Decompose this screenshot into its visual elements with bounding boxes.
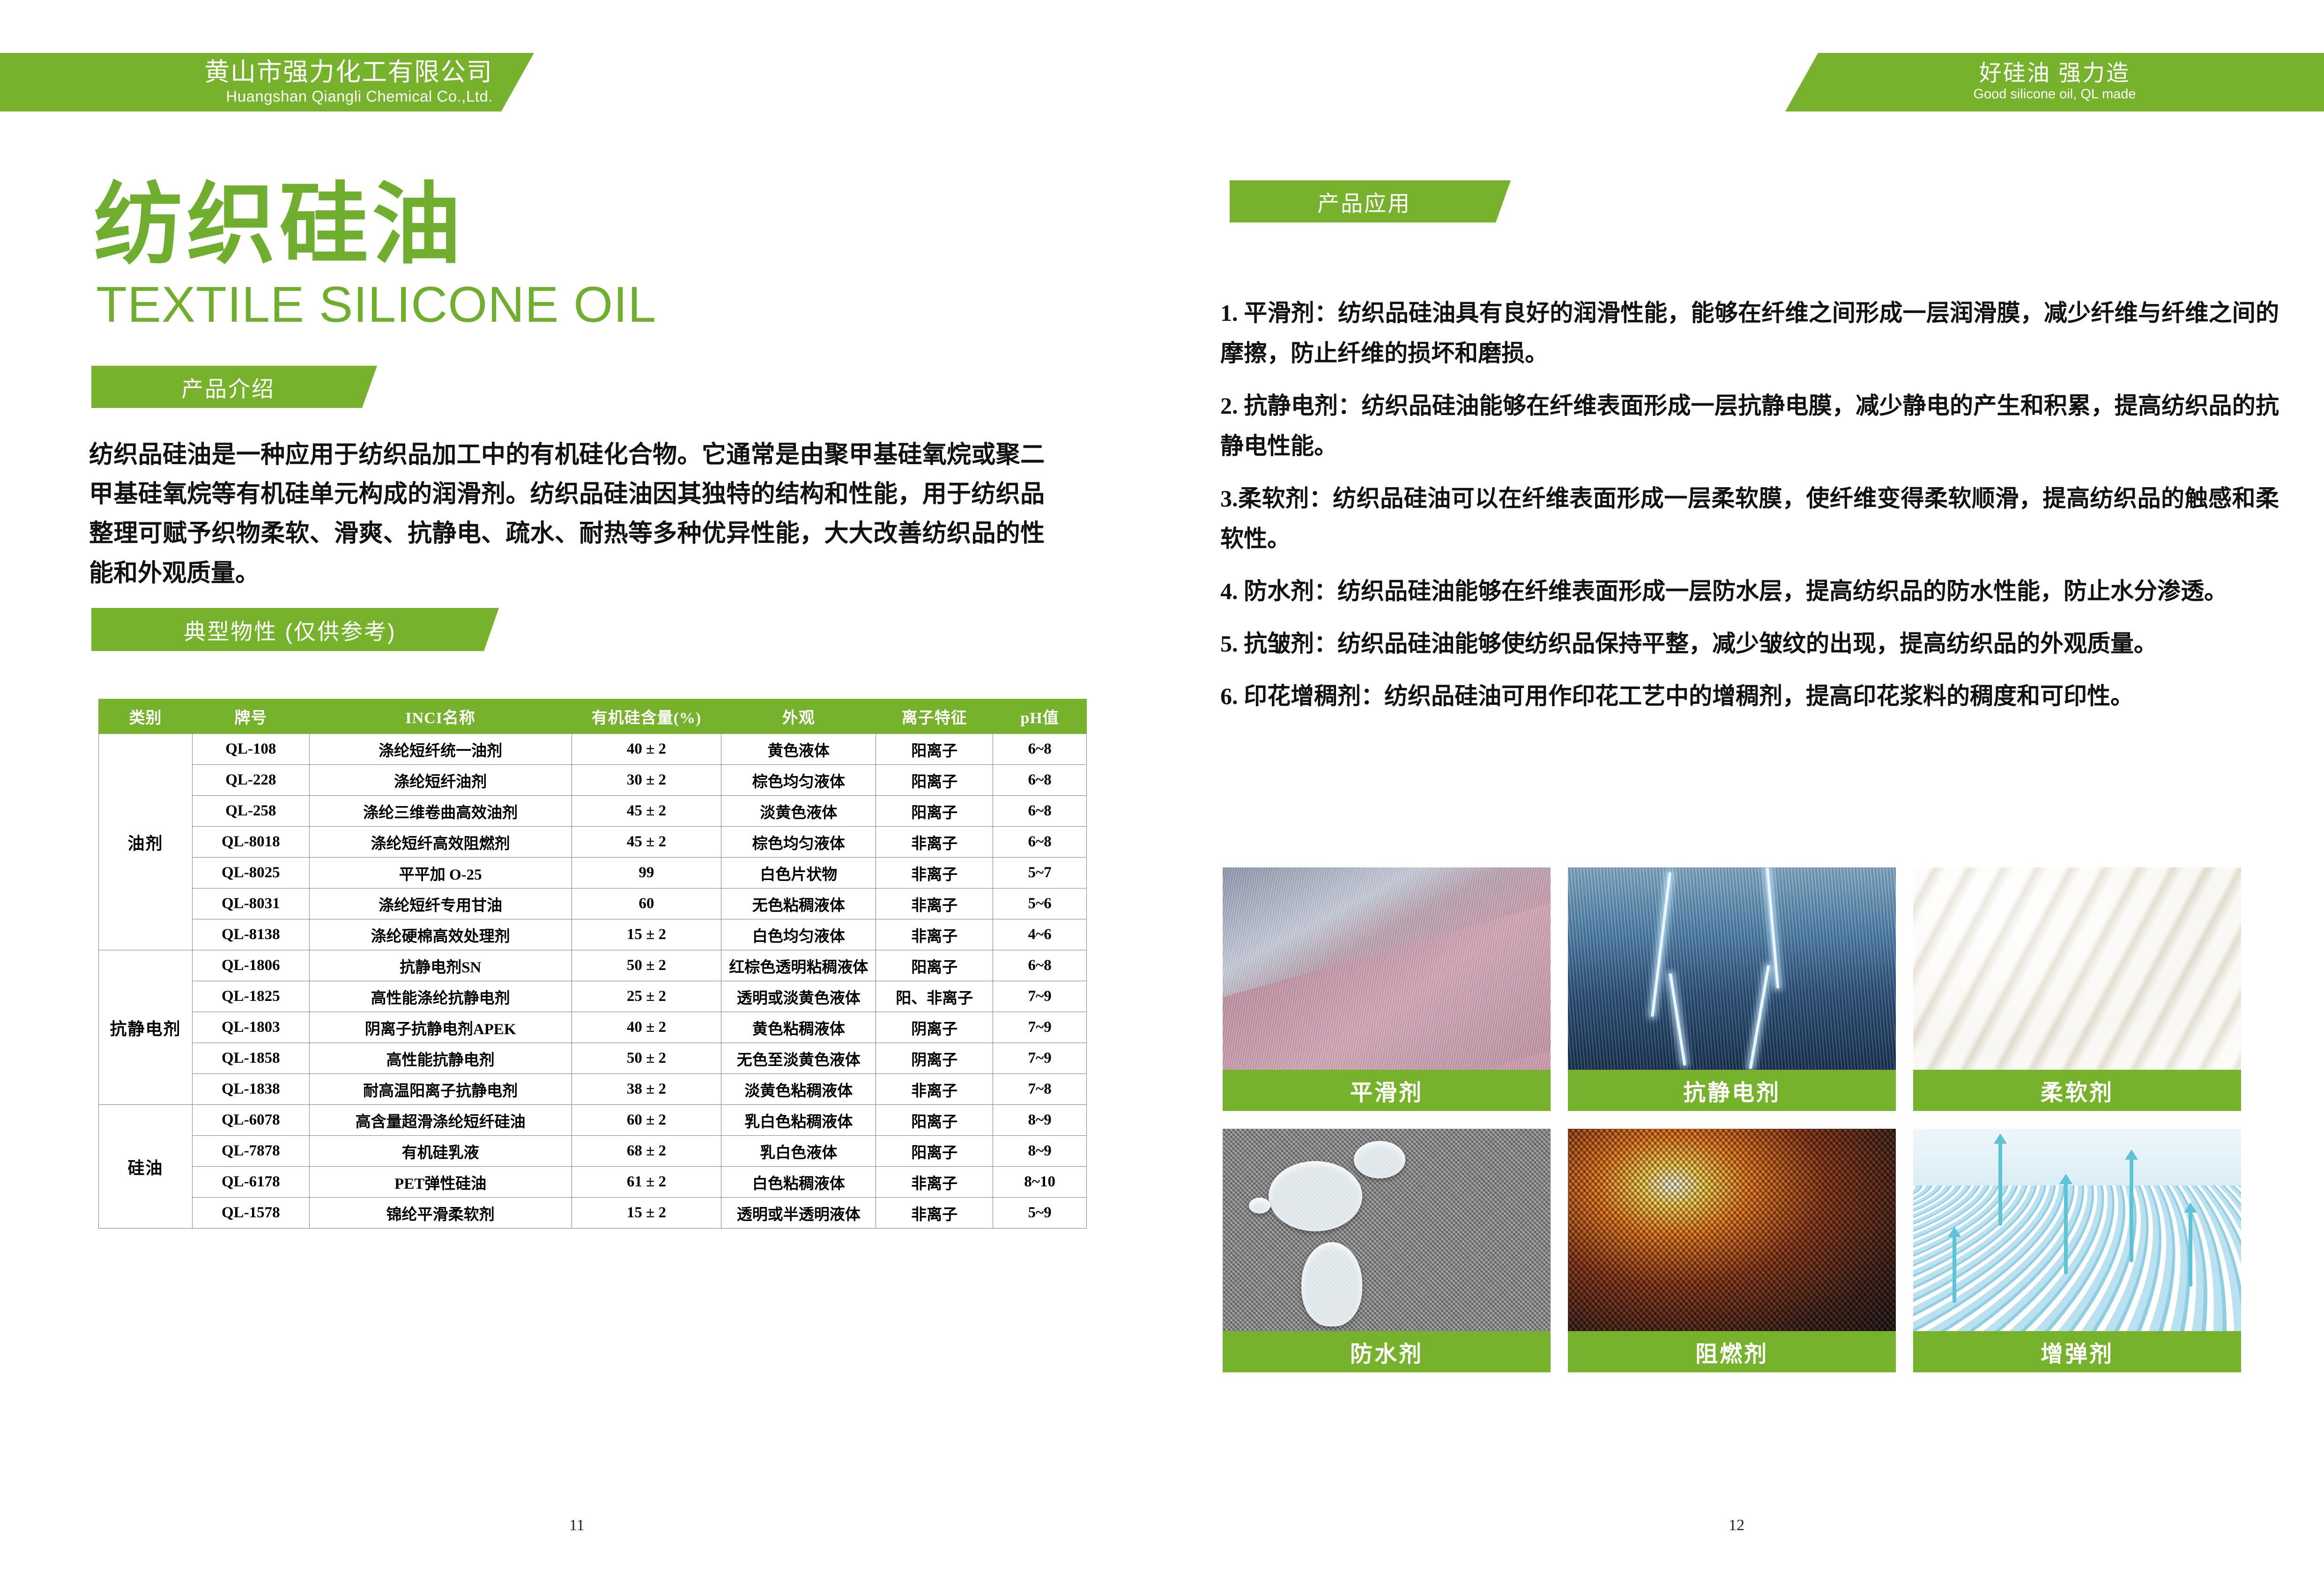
application-gallery: 平滑剂 抗静电剂 柔软剂 — [1223, 867, 2300, 1372]
table-cell: QL-228 — [192, 765, 309, 796]
table-cell: 50 ± 2 — [572, 1043, 721, 1074]
table-cell: 5~9 — [993, 1198, 1087, 1229]
table-row: QL-258涤纶三维卷曲高效油剂45 ± 2淡黄色液体阳离子6~8 — [99, 796, 1087, 827]
table-cell: 非离子 — [876, 1074, 993, 1105]
table-cell: 非离子 — [876, 919, 993, 950]
table-row: QL-6178PET弹性硅油61 ± 2白色粘稠液体非离子8~10 — [99, 1167, 1087, 1198]
section-badge-product-applications: 产品应用 — [1230, 180, 1511, 222]
table-cell: 黄色液体 — [721, 734, 876, 765]
table-cell: 白色片状物 — [721, 858, 876, 888]
table-cell: 红棕色透明粘稠液体 — [721, 950, 876, 981]
page-number-right: 12 — [1729, 1517, 1745, 1534]
spec-table-head: 类别 牌号 INCI名称 有机硅含量(%) 外观 离子特征 pH值 — [99, 699, 1087, 734]
application-item: 4. 防水剂：纺织品硅油能够在纤维表面形成一层防水层，提高纺织品的防水性能，防止… — [1220, 571, 2279, 611]
spec-table-wrapper: 类别 牌号 INCI名称 有机硅含量(%) 外观 离子特征 pH值 油剂QL-1… — [98, 699, 1087, 1229]
table-cell: 7~8 — [993, 1074, 1087, 1105]
table-cell: 高性能抗静电剂 — [309, 1043, 572, 1074]
table-cell: 白色粘稠液体 — [721, 1167, 876, 1198]
table-cell: 高含量超滑涤纶短纤硅油 — [309, 1105, 572, 1136]
table-cell: QL-1806 — [192, 950, 309, 981]
table-row: QL-228涤纶短纤油剂30 ± 2棕色均匀液体阳离子6~8 — [99, 765, 1087, 796]
table-cell: 6~8 — [993, 950, 1087, 981]
table-cell: 淡黄色粘稠液体 — [721, 1074, 876, 1105]
table-cell: 阳离子 — [876, 765, 993, 796]
table-cell: 抗静电剂SN — [309, 950, 572, 981]
table-row: QL-8025平平加 O-2599白色片状物非离子5~7 — [99, 858, 1087, 888]
table-cell: QL-1858 — [192, 1043, 309, 1074]
table-cell: 涤纶短纤专用甘油 — [309, 888, 572, 919]
table-cell: PET弹性硅油 — [309, 1167, 572, 1198]
table-cell: QL-6178 — [192, 1167, 309, 1198]
table-cell: 8~9 — [993, 1105, 1087, 1136]
table-cell: 40 ± 2 — [572, 1012, 721, 1043]
table-row: QL-1578锦纶平滑柔软剂15 ± 2透明或半透明液体非离子5~9 — [99, 1198, 1087, 1229]
table-row: 油剂QL-108涤纶短纤统一油剂40 ± 2黄色液体阳离子6~8 — [99, 734, 1087, 765]
gallery-card-antistatic: 抗静电剂 — [1568, 867, 1896, 1111]
table-cell: 非离子 — [876, 827, 993, 858]
left-page: 纺织硅油 TEXTILE SILICONE OIL 产品介绍 纺织品硅油是一种应… — [0, 0, 1162, 1577]
col-header-category: 类别 — [99, 699, 193, 734]
table-cell: QL-1838 — [192, 1074, 309, 1105]
table-cell: 高性能涤纶抗静电剂 — [309, 981, 572, 1012]
section-badge-product-intro-label: 产品介绍 — [181, 371, 275, 403]
table-cell-category: 油剂 — [99, 734, 193, 950]
spec-table-body: 油剂QL-108涤纶短纤统一油剂40 ± 2黄色液体阳离子6~8QL-228涤纶… — [99, 734, 1087, 1229]
table-cell: 涤纶短纤统一油剂 — [309, 734, 572, 765]
table-cell: 非离子 — [876, 1167, 993, 1198]
table-cell: QL-258 — [192, 796, 309, 827]
table-cell: 淡黄色液体 — [721, 796, 876, 827]
table-cell: 7~9 — [993, 1043, 1087, 1074]
table-cell: QL-1803 — [192, 1012, 309, 1043]
table-cell: 棕色均匀液体 — [721, 765, 876, 796]
table-cell: 4~6 — [993, 919, 1087, 950]
col-header-ph: pH值 — [993, 699, 1087, 734]
table-cell: QL-6078 — [192, 1105, 309, 1136]
table-row: QL-8138涤纶硬棉高效处理剂15 ± 2白色均匀液体非离子4~6 — [99, 919, 1087, 950]
water-beading-photo — [1223, 1129, 1551, 1331]
table-row: 抗静电剂QL-1806抗静电剂SN50 ± 2红棕色透明粘稠液体阳离子6~8 — [99, 950, 1087, 981]
table-row: 硅油QL-6078高含量超滑涤纶短纤硅油60 ± 2乳白色粘稠液体阳离子8~9 — [99, 1105, 1087, 1136]
table-cell: 25 ± 2 — [572, 981, 721, 1012]
table-cell: 7~9 — [993, 1012, 1087, 1043]
table-cell: 非离子 — [876, 858, 993, 888]
gallery-card-softener: 柔软剂 — [1913, 867, 2241, 1111]
table-cell: 6~8 — [993, 796, 1087, 827]
table-cell: 45 ± 2 — [572, 796, 721, 827]
table-cell: 30 ± 2 — [572, 765, 721, 796]
table-cell: 平平加 O-25 — [309, 858, 572, 888]
section-badge-typical-properties-label: 典型物性 (仅供参考) — [184, 614, 396, 646]
table-cell: 7~9 — [993, 981, 1087, 1012]
table-cell: 38 ± 2 — [572, 1074, 721, 1105]
gallery-caption-waterproof: 防水剂 — [1223, 1331, 1551, 1372]
table-cell: 非离子 — [876, 888, 993, 919]
section-badge-product-applications-label: 产品应用 — [1317, 185, 1411, 218]
col-header-silicone-content: 有机硅含量(%) — [572, 699, 721, 734]
table-cell: 棕色均匀液体 — [721, 827, 876, 858]
table-cell-category: 抗静电剂 — [99, 950, 193, 1105]
gallery-caption-smoothing: 平滑剂 — [1223, 1070, 1551, 1111]
table-cell: 45 ± 2 — [572, 827, 721, 858]
col-header-inci: INCI名称 — [309, 699, 572, 734]
product-intro-paragraph: 纺织品硅油是一种应用于纺织品加工中的有机硅化合物。它通常是由聚甲基硅氧烷或聚二甲… — [89, 436, 1045, 593]
table-cell: 有机硅乳液 — [309, 1136, 572, 1167]
table-cell: QL-8031 — [192, 888, 309, 919]
table-cell: 阳离子 — [876, 1105, 993, 1136]
col-header-ionic: 离子特征 — [876, 699, 993, 734]
table-cell: 白色均匀液体 — [721, 919, 876, 950]
table-cell: 阳离子 — [876, 734, 993, 765]
gallery-caption-antistatic: 抗静电剂 — [1568, 1070, 1896, 1111]
elastic-fibers-photo — [1913, 1129, 2241, 1331]
table-cell: 15 ± 2 — [572, 919, 721, 950]
application-item: 2. 抗静电剂：纺织品硅油能够在纤维表面形成一层抗静电膜，减少静电的产生和积累，… — [1220, 385, 2279, 466]
table-cell: 耐高温阳离子抗静电剂 — [309, 1074, 572, 1105]
table-cell: 5~7 — [993, 858, 1087, 888]
table-cell: 阳离子 — [876, 950, 993, 981]
table-cell: 6~8 — [993, 734, 1087, 765]
application-item: 6. 印花增稠剂：纺织品硅油可用作印花工艺中的增稠剂，提高印花浆料的稠度和可印性… — [1220, 676, 2279, 716]
table-cell: 非离子 — [876, 1198, 993, 1229]
table-cell: 乳白色液体 — [721, 1136, 876, 1167]
table-cell: QL-1578 — [192, 1198, 309, 1229]
table-row: QL-7878有机硅乳液68 ± 2乳白色液体阳离子8~9 — [99, 1136, 1087, 1167]
table-row: QL-1858高性能抗静电剂50 ± 2无色至淡黄色液体阴离子7~9 — [99, 1043, 1087, 1074]
table-row: QL-1838耐高温阳离子抗静电剂38 ± 2淡黄色粘稠液体非离子7~8 — [99, 1074, 1087, 1105]
table-cell: 5~6 — [993, 888, 1087, 919]
table-cell: 6~8 — [993, 827, 1087, 858]
table-header-row: 类别 牌号 INCI名称 有机硅含量(%) 外观 离子特征 pH值 — [99, 699, 1087, 734]
table-cell: 68 ± 2 — [572, 1136, 721, 1167]
table-cell: 阴离子抗静电剂APEK — [309, 1012, 572, 1043]
col-header-grade: 牌号 — [192, 699, 309, 734]
table-cell: 15 ± 2 — [572, 1198, 721, 1229]
table-cell: 阴离子 — [876, 1012, 993, 1043]
table-cell: 涤纶短纤油剂 — [309, 765, 572, 796]
table-cell: 60 ± 2 — [572, 1105, 721, 1136]
table-row: QL-1825高性能涤纶抗静电剂25 ± 2透明或淡黄色液体阳、非离子7~9 — [99, 981, 1087, 1012]
table-cell: 61 ± 2 — [572, 1167, 721, 1198]
page-title-cn: 纺织硅油 — [94, 180, 465, 269]
fabric-drape-photo — [1223, 867, 1551, 1070]
table-cell: 60 — [572, 888, 721, 919]
table-cell: 8~9 — [993, 1136, 1087, 1167]
brochure-spread: 黄山市强力化工有限公司 Huangshan Qiangli Chemical C… — [0, 0, 2324, 1577]
table-cell: QL-7878 — [192, 1136, 309, 1167]
table-cell: QL-8018 — [192, 827, 309, 858]
table-cell: QL-1825 — [192, 981, 309, 1012]
table-cell: 8~10 — [993, 1167, 1087, 1198]
gallery-card-smoothing: 平滑剂 — [1223, 867, 1551, 1111]
table-cell: 99 — [572, 858, 721, 888]
table-row: QL-8018涤纶短纤高效阻燃剂45 ± 2棕色均匀液体非离子6~8 — [99, 827, 1087, 858]
col-header-appearance: 外观 — [721, 699, 876, 734]
spec-table: 类别 牌号 INCI名称 有机硅含量(%) 外观 离子特征 pH值 油剂QL-1… — [98, 699, 1087, 1229]
section-badge-product-intro: 产品介绍 — [91, 366, 377, 408]
application-item: 5. 抗皱剂：纺织品硅油能够使纺织品保持平整，减少皱纹的出现，提高纺织品的外观质… — [1220, 623, 2279, 664]
table-cell: 阳离子 — [876, 796, 993, 827]
table-cell: 乳白色粘稠液体 — [721, 1105, 876, 1136]
flame-fabric-photo — [1568, 1129, 1896, 1331]
section-badge-typical-properties: 典型物性 (仅供参考) — [91, 608, 499, 651]
table-cell: QL-8025 — [192, 858, 309, 888]
gallery-card-waterproof: 防水剂 — [1223, 1129, 1551, 1372]
gallery-card-flame-retardant: 阻燃剂 — [1568, 1129, 1896, 1372]
table-cell: 锦纶平滑柔软剂 — [309, 1198, 572, 1229]
page-number-left: 11 — [569, 1517, 585, 1534]
table-cell: 无色至淡黄色液体 — [721, 1043, 876, 1074]
application-item: 3.柔软剂：纺织品硅油可以在纤维表面形成一层柔软膜，使纤维变得柔软顺滑，提高纺织… — [1220, 478, 2279, 559]
gallery-caption-elasticity: 增弹剂 — [1913, 1331, 2241, 1372]
table-row: QL-8031涤纶短纤专用甘油60无色粘稠液体非离子5~6 — [99, 888, 1087, 919]
table-cell: 6~8 — [993, 765, 1087, 796]
table-cell-category: 硅油 — [99, 1105, 193, 1229]
table-cell: 40 ± 2 — [572, 734, 721, 765]
table-cell: QL-108 — [192, 734, 309, 765]
table-cell: 无色粘稠液体 — [721, 888, 876, 919]
table-cell: 涤纶三维卷曲高效油剂 — [309, 796, 572, 827]
table-cell: 涤纶短纤高效阻燃剂 — [309, 827, 572, 858]
page-title-en: TEXTILE SILICONE OIL — [96, 279, 656, 330]
application-item: 1. 平滑剂：纺织品硅油具有良好的润滑性能，能够在纤维之间形成一层润滑膜，减少纤… — [1220, 293, 2279, 373]
table-row: QL-1803阴离子抗静电剂APEK40 ± 2黄色粘稠液体阴离子7~9 — [99, 1012, 1087, 1043]
table-cell: 阳离子 — [876, 1136, 993, 1167]
table-cell: 50 ± 2 — [572, 950, 721, 981]
table-cell: QL-8138 — [192, 919, 309, 950]
white-satin-photo — [1913, 867, 2241, 1070]
table-cell: 透明或淡黄色液体 — [721, 981, 876, 1012]
table-cell: 透明或半透明液体 — [721, 1198, 876, 1229]
gallery-caption-softener: 柔软剂 — [1913, 1070, 2241, 1111]
table-cell: 黄色粘稠液体 — [721, 1012, 876, 1043]
gallery-card-elasticity: 增弹剂 — [1913, 1129, 2241, 1372]
table-cell: 涤纶硬棉高效处理剂 — [309, 919, 572, 950]
gallery-caption-flame-retardant: 阻燃剂 — [1568, 1331, 1896, 1372]
table-cell: 阴离子 — [876, 1043, 993, 1074]
application-list: 1. 平滑剂：纺织品硅油具有良好的润滑性能，能够在纤维之间形成一层润滑膜，减少纤… — [1220, 293, 2279, 728]
lightning-fabric-photo — [1568, 867, 1896, 1070]
table-cell: 阳、非离子 — [876, 981, 993, 1012]
